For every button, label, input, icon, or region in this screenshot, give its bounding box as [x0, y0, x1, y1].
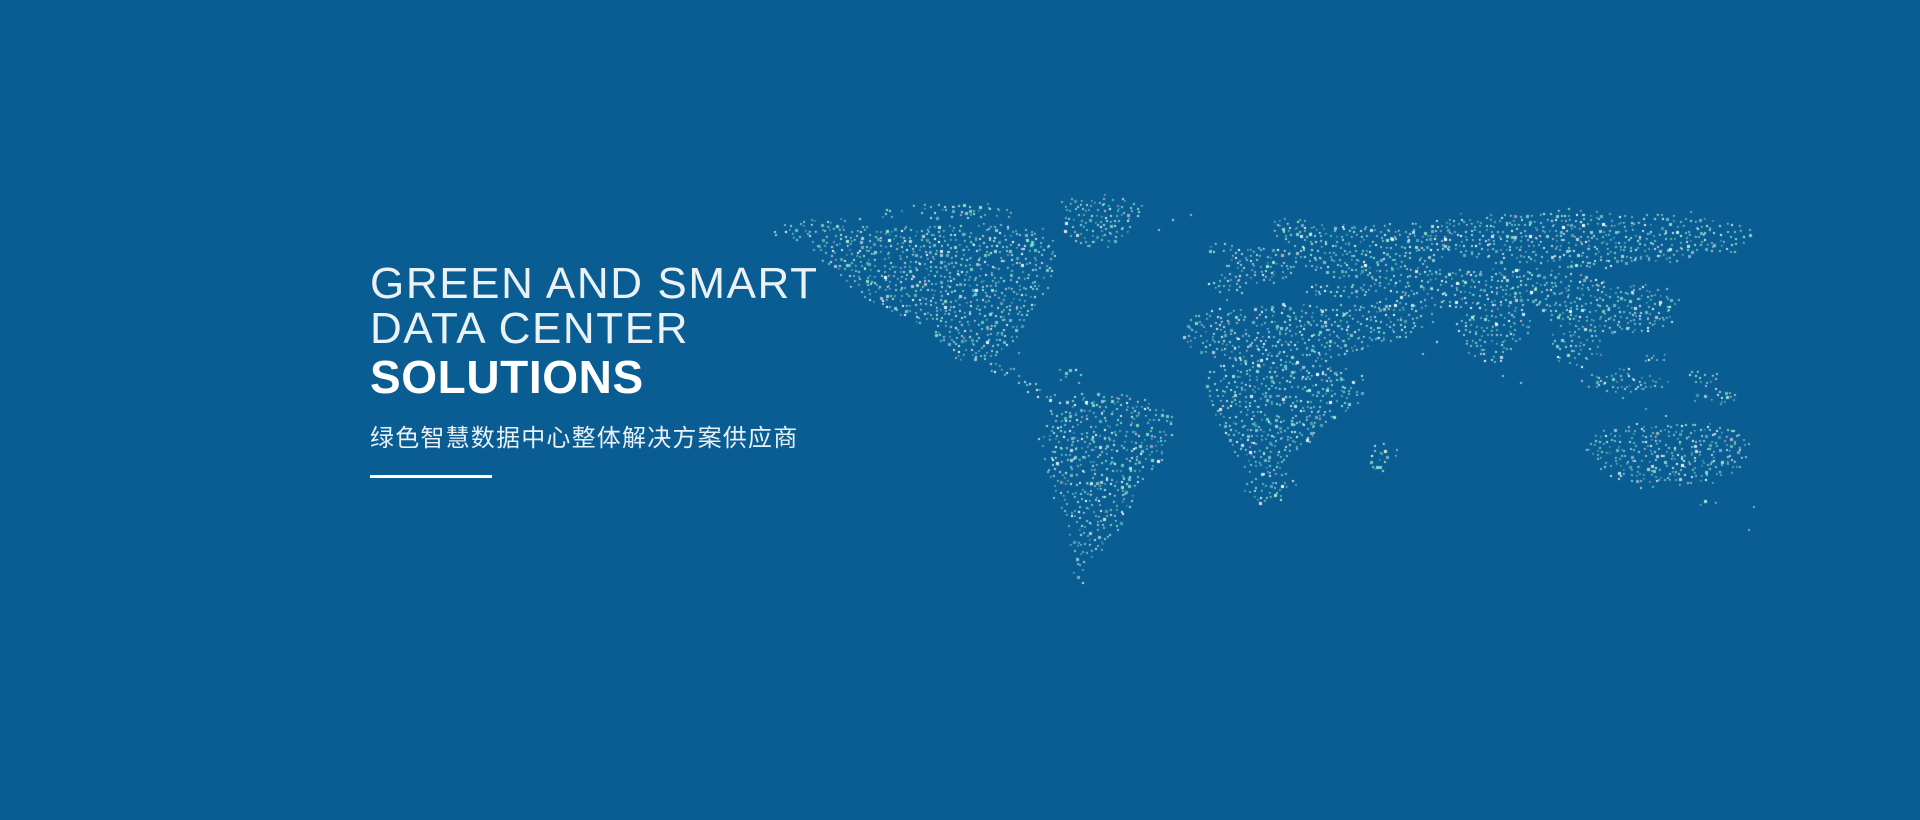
hero-subtitle-chinese: 绿色智慧数据中心整体解决方案供应商: [370, 418, 798, 453]
headline-line-1: GREEN AND SMART: [370, 262, 1010, 307]
banner-stage: GREEN AND SMART DATA CENTER SOLUTIONS 绿色…: [0, 0, 1920, 820]
headline-line-3: SOLUTIONS: [370, 354, 1010, 401]
rule-divider: [370, 475, 492, 478]
hero-headline-block: GREEN AND SMART DATA CENTER SOLUTIONS: [370, 262, 1010, 401]
headline-line-2: DATA CENTER: [370, 307, 1010, 352]
